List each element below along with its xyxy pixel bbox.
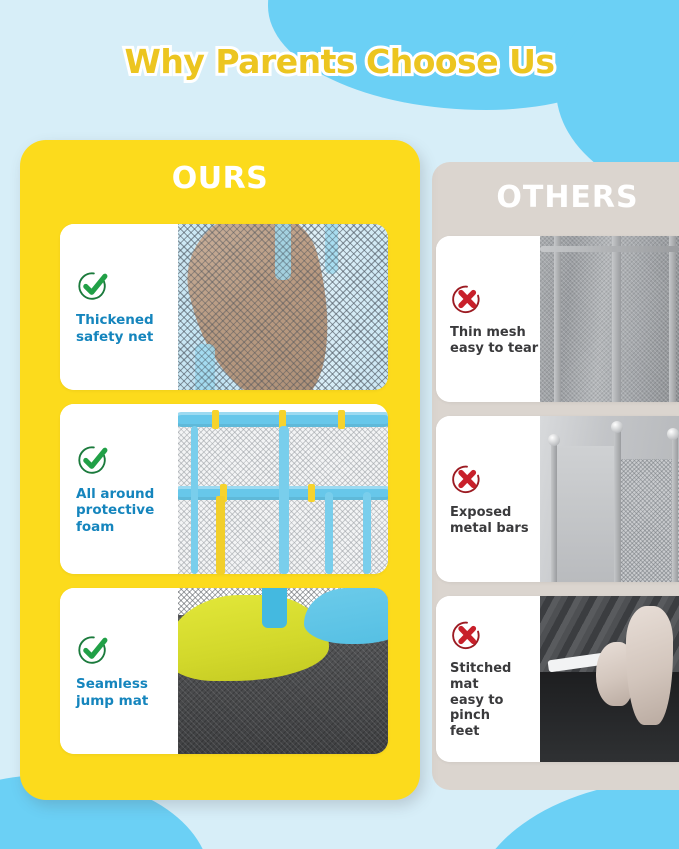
others-card-text: Thin mesh easy to tear — [436, 236, 540, 402]
ours-card-text: Seamless jump mat — [60, 588, 178, 754]
ours-panel-header: OURS — [20, 140, 420, 216]
ours-card-text: All around protective foam — [60, 404, 178, 574]
others-card-image-metal-bars — [540, 416, 679, 582]
ours-feature-card-safety-net[interactable]: Thickened safety net — [60, 224, 388, 390]
x-circle-icon — [450, 462, 484, 496]
others-card-label: Stitched mat easy to pinch feet — [450, 661, 540, 740]
check-circle-icon — [76, 633, 110, 667]
others-feature-card-metal-bars[interactable]: Exposed metal bars — [436, 416, 679, 582]
others-feature-list: Thin mesh easy to tear Exposed metal bar… — [436, 236, 679, 762]
others-card-text: Exposed metal bars — [436, 416, 540, 582]
others-card-label: Exposed metal bars — [450, 505, 540, 537]
ours-card-label: All around protective foam — [76, 486, 178, 535]
page-title-text: Why Parents Choose Us — [124, 42, 554, 81]
check-circle-icon — [76, 269, 110, 303]
x-circle-icon — [450, 282, 484, 316]
check-circle-icon — [76, 443, 110, 477]
others-feature-card-stitched-mat[interactable]: Stitched mat easy to pinch feet — [436, 596, 679, 762]
others-card-image-thin-mesh — [540, 236, 679, 402]
ours-card-image-safety-net — [178, 224, 388, 390]
others-card-image-stitched-mat — [540, 596, 679, 762]
ours-heading: OURS — [172, 161, 269, 196]
ours-feature-card-protective-foam[interactable]: All around protective foam — [60, 404, 388, 574]
others-heading: OTHERS — [496, 180, 638, 215]
others-panel-header: OTHERS — [432, 162, 679, 232]
ours-card-image-jump-mat — [178, 588, 388, 754]
others-feature-card-thin-mesh[interactable]: Thin mesh easy to tear — [436, 236, 679, 402]
ours-card-image-protective-foam — [178, 404, 388, 574]
comparison-section: OTHERS Thin mesh easy to tear — [0, 140, 679, 800]
page-title: Why Parents Choose Us — [0, 42, 679, 81]
ours-card-label: Seamless jump mat — [76, 676, 178, 709]
others-card-text: Stitched mat easy to pinch feet — [436, 596, 540, 762]
ours-panel: OURS Thickened safety net — [20, 140, 420, 800]
x-circle-icon — [450, 618, 484, 652]
ours-feature-card-jump-mat[interactable]: Seamless jump mat — [60, 588, 388, 754]
others-card-label: Thin mesh easy to tear — [450, 325, 540, 357]
ours-card-label: Thickened safety net — [76, 312, 178, 345]
ours-feature-list: Thickened safety net All around protecti… — [60, 224, 388, 754]
ours-card-text: Thickened safety net — [60, 224, 178, 390]
